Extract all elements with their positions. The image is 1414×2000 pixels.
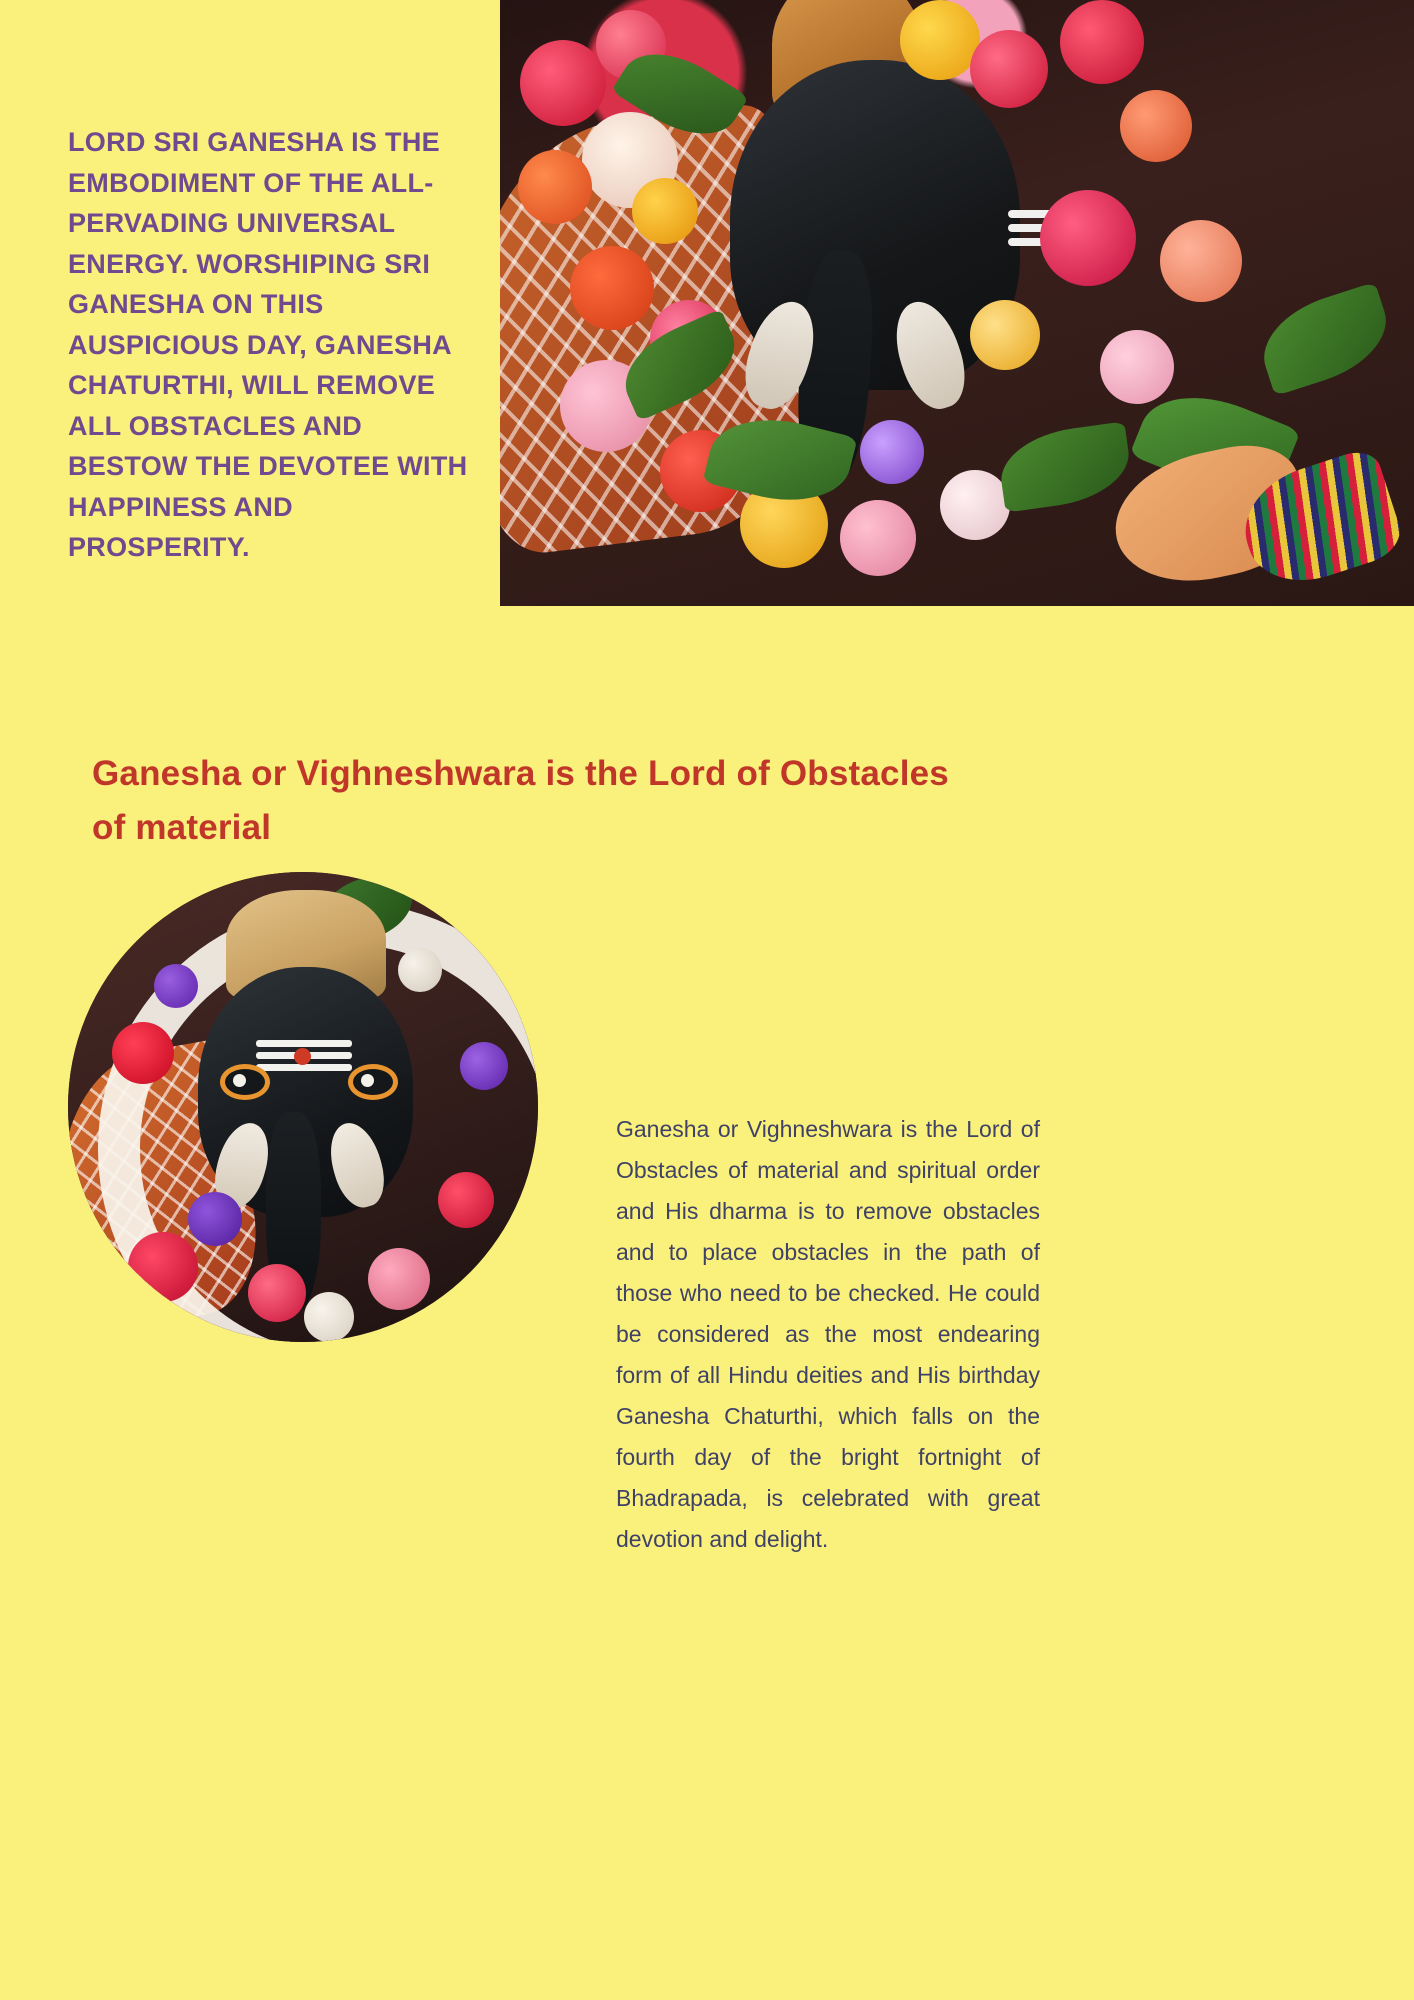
flower-shape — [1100, 330, 1174, 404]
flower-shape — [940, 470, 1010, 540]
flower-shape — [438, 1172, 494, 1228]
hero-photo-art — [500, 0, 1414, 606]
flower-shape — [460, 1042, 508, 1090]
flower-shape — [128, 1232, 198, 1302]
flower-shape — [368, 1248, 430, 1310]
idol-tilak-dot-shape — [294, 1048, 311, 1065]
flower-shape — [970, 300, 1040, 370]
section-heading: Ganesha or Vighneshwara is the Lord of O… — [92, 747, 992, 855]
flower-shape — [1040, 190, 1136, 286]
flower-shape — [1120, 90, 1192, 162]
flower-shape — [900, 0, 980, 80]
flower-shape — [188, 1192, 242, 1246]
flower-shape — [1060, 0, 1144, 84]
flower-shape — [632, 178, 698, 244]
hero-ganesha-photo — [500, 0, 1414, 606]
flower-shape — [840, 500, 916, 576]
flower-shape — [570, 246, 654, 330]
idol-tilak-shape — [256, 1040, 352, 1047]
poster-page: LORD SRI GANESHA IS THE EMBODIMENT OF TH… — [0, 0, 1414, 2000]
flower-shape — [860, 420, 924, 484]
flower-shape — [248, 1264, 306, 1322]
idol-right-eye-shape — [348, 1064, 398, 1100]
flower-shape — [970, 30, 1048, 108]
section-body-text: Ganesha or Vighneshwara is the Lord of O… — [616, 1109, 1040, 1560]
flower-shape — [1160, 220, 1242, 302]
flower-shape — [304, 1292, 354, 1342]
hero-heading: LORD SRI GANESHA IS THE EMBODIMENT OF TH… — [68, 122, 468, 568]
flower-shape — [154, 964, 198, 1008]
flower-shape — [398, 948, 442, 992]
flower-shape — [520, 40, 606, 126]
flower-shape — [518, 150, 592, 224]
flower-shape — [112, 1022, 174, 1084]
section-circle-photo — [68, 872, 538, 1342]
idol-left-eye-shape — [220, 1064, 270, 1100]
circle-photo-art — [68, 872, 538, 1342]
